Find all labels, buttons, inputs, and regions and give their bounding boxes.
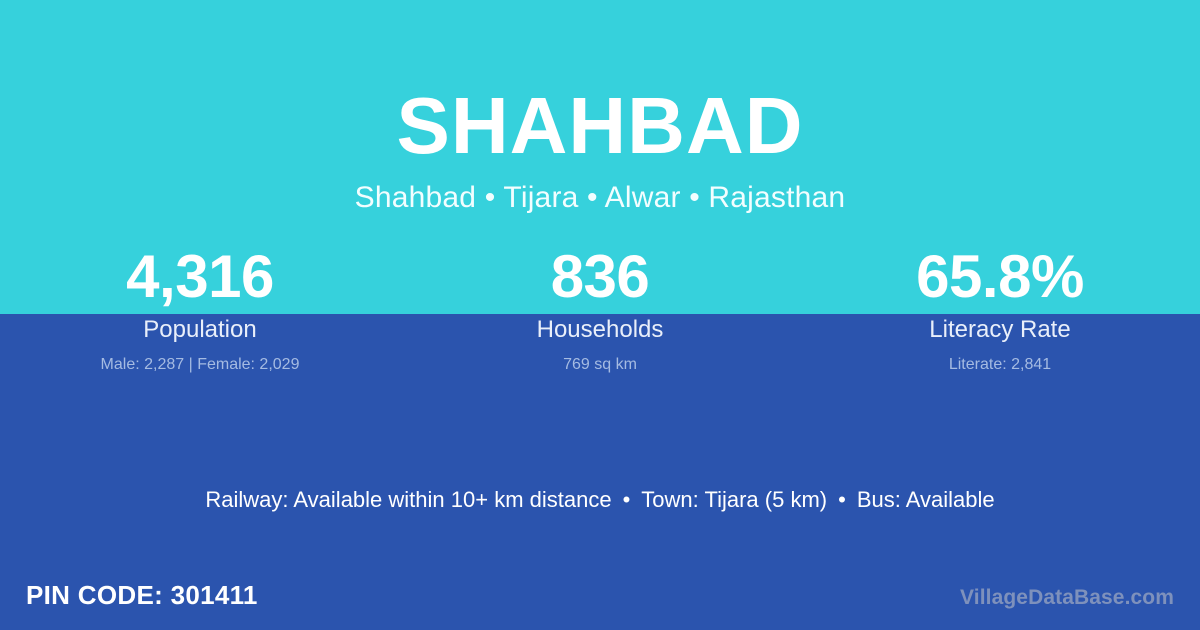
amenity-separator-1: • (612, 486, 642, 514)
stat-value-households: 836 (400, 246, 800, 308)
card-footer: PIN CODE: 301411 VillageDataBase.com (0, 570, 1200, 630)
brand-watermark: VillageDataBase.com (960, 585, 1174, 611)
amenity-separator-2: • (827, 486, 857, 514)
stats-row: 4,316 Population Male: 2,287 | Female: 2… (0, 246, 1200, 375)
stat-literacy-rate: 65.8% Literacy Rate Literate: 2,841 (800, 246, 1200, 375)
stat-sub-households: 769 sq km (400, 355, 800, 375)
amenity-town: Town: Tijara (5 km) (641, 487, 827, 512)
stat-label-literacy-rate: Literacy Rate (800, 316, 1200, 344)
stat-sub-population: Male: 2,287 | Female: 2,029 (0, 355, 400, 375)
stat-sub-literacy-rate: Literate: 2,841 (800, 355, 1200, 375)
stat-households: 836 Households 769 sq km (400, 246, 800, 375)
village-info-card: SHAHBAD Shahbad • Tijara • Alwar • Rajas… (0, 0, 1200, 630)
stat-value-population: 4,316 (0, 246, 400, 308)
breadcrumb: Shahbad • Tijara • Alwar • Rajasthan (0, 168, 1200, 216)
stat-value-literacy-rate: 65.8% (800, 246, 1200, 308)
stat-label-households: Households (400, 316, 800, 344)
stat-population: 4,316 Population Male: 2,287 | Female: 2… (0, 246, 400, 375)
stat-label-population: Population (0, 316, 400, 344)
pin-code: PIN CODE: 301411 (26, 580, 258, 610)
amenity-railway: Railway: Available within 10+ km distanc… (205, 487, 611, 512)
card-header: SHAHBAD Shahbad • Tijara • Alwar • Rajas… (0, 0, 1200, 216)
amenities-line: Railway: Available within 10+ km distanc… (0, 486, 1200, 514)
amenity-bus: Bus: Available (857, 487, 995, 512)
page-title: SHAHBAD (0, 0, 1200, 168)
